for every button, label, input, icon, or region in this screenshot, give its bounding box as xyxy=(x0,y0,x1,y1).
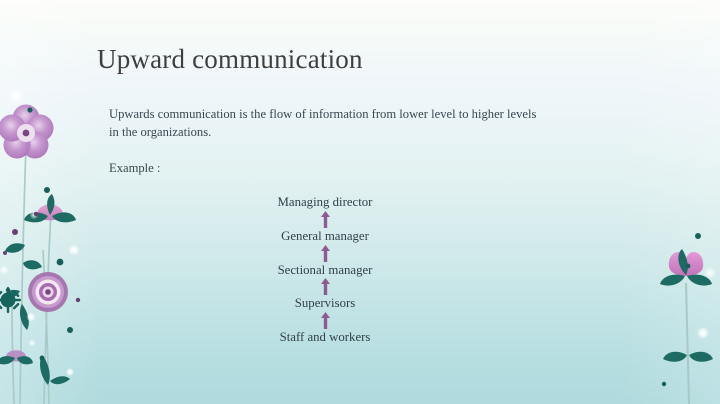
slide-title: Upward communication xyxy=(97,45,363,75)
watercolor-flower-right-decoration xyxy=(648,225,720,404)
watercolor-flowers-left-decoration xyxy=(0,95,106,404)
arrow-up-icon xyxy=(321,312,330,329)
body-paragraph: Upwards communication is the flow of inf… xyxy=(109,106,549,142)
hierarchy-chain: Managing director General manager Sectio… xyxy=(245,196,405,344)
hierarchy-level-staff-and-workers: Staff and workers xyxy=(280,331,371,344)
hierarchy-level-managing-director: Managing director xyxy=(278,196,373,209)
arrow-up-icon xyxy=(321,211,330,228)
slide-canvas: Upward communication Upwards communicati… xyxy=(0,0,720,404)
hierarchy-level-sectional-manager: Sectional manager xyxy=(278,264,373,277)
example-label: Example : xyxy=(109,161,160,176)
arrow-up-icon xyxy=(321,278,330,295)
hierarchy-level-general-manager: General manager xyxy=(281,230,369,243)
hierarchy-level-supervisors: Supervisors xyxy=(295,297,355,310)
arrow-up-icon xyxy=(321,245,330,262)
